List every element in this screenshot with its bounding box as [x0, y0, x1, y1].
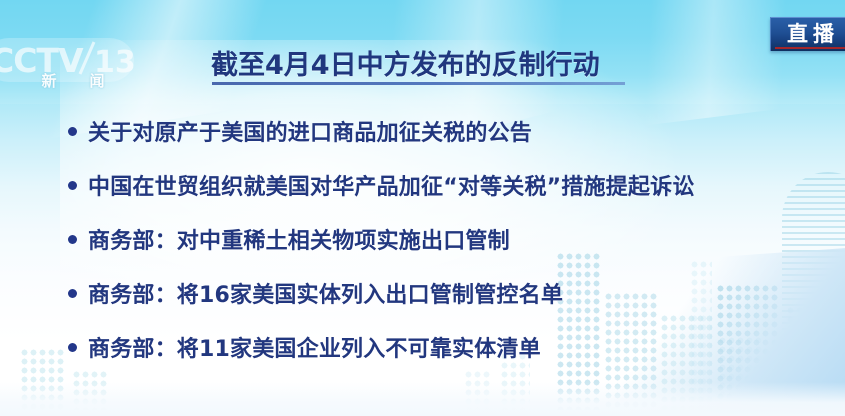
cctv-sublabel-char-1: 新 [41, 70, 62, 91]
broadcast-lower-third-graphic: CCTV 13 新 闻 直播 截至4月4日中方发布的反制行动 关于对原产于美国的… [0, 0, 845, 416]
list-item-label: 关于对原产于美国的进口商品加征关税的公告 [88, 115, 532, 147]
page-title: 截至4月4日中方发布的反制行动 [211, 43, 600, 82]
cctv-sublabel-char-2: 闻 [89, 70, 110, 91]
bullet-dot-icon [68, 235, 77, 244]
list-item: 商务部：对中重稀土相关物项实施出口管制 [68, 212, 828, 266]
live-badge: 直播 [770, 17, 845, 51]
list-item-label: 商务部：对中重稀土相关物项实施出口管制 [88, 223, 510, 255]
list-item: 商务部：将16家美国实体列入出口管制管控名单 [68, 266, 828, 320]
bullet-list: 关于对原产于美国的进口商品加征关税的公告 中国在世贸组织就美国对华产品加征“对等… [68, 104, 828, 374]
bullet-dot-icon [68, 181, 77, 190]
list-item: 商务部：将11家美国企业列入不可靠实体清单 [68, 320, 828, 374]
bullet-dot-icon [68, 343, 77, 352]
list-item: 关于对原产于美国的进口商品加征关税的公告 [68, 104, 828, 158]
bullet-dot-icon [68, 289, 77, 298]
list-item: 中国在世贸组织就美国对华产品加征“对等关税”措施提起诉讼 [68, 158, 828, 212]
background-bottom-fade [0, 382, 845, 416]
live-badge-label: 直播 [782, 24, 839, 45]
list-item-label: 商务部：将11家美国企业列入不可靠实体清单 [88, 331, 541, 363]
list-item-label: 中国在世贸组织就美国对华产品加征“对等关税”措施提起诉讼 [88, 169, 695, 201]
title-underline [212, 82, 625, 85]
list-item-label: 商务部：将16家美国实体列入出口管制管控名单 [88, 277, 563, 309]
bullet-dot-icon [68, 127, 77, 136]
cctv-channel-sublabel: 新 闻 [28, 70, 124, 91]
